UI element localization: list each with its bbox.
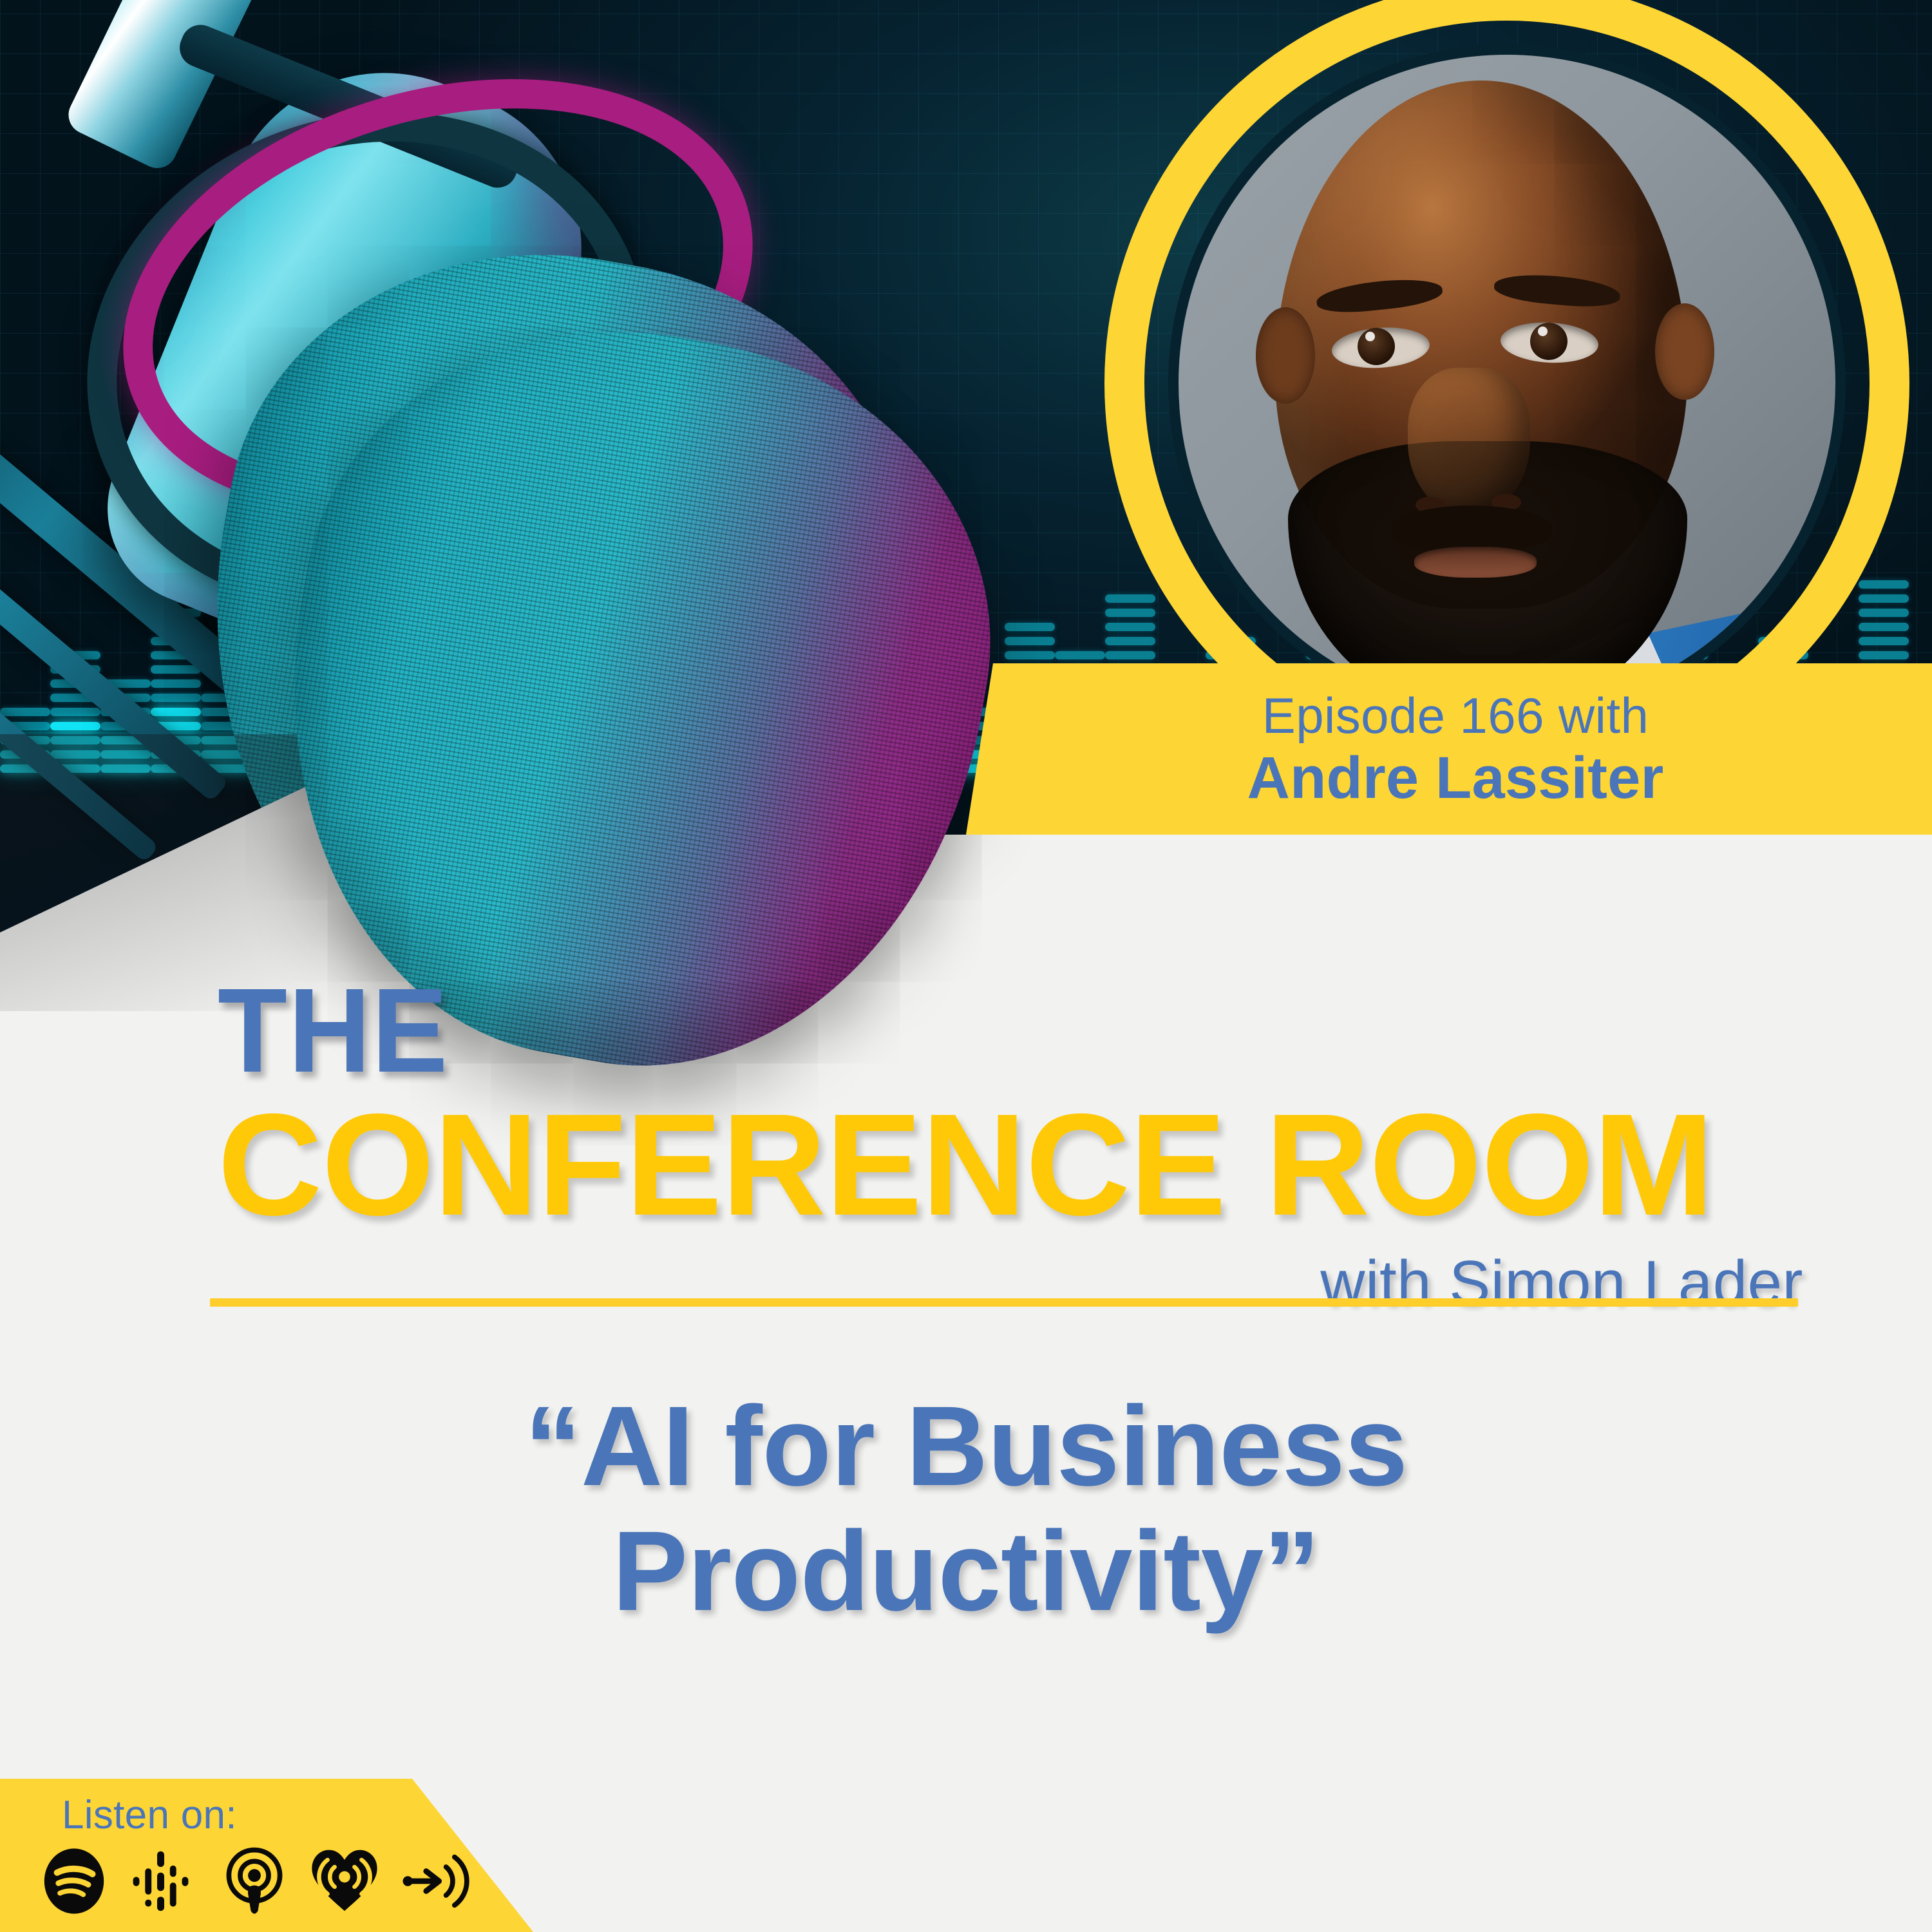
apple-podcasts-icon[interactable]	[219, 1846, 290, 1917]
guest-lips	[1414, 547, 1537, 578]
guest-eye-glint-left	[1365, 332, 1375, 341]
equalizer-segment	[1859, 651, 1909, 659]
episode-number-label: Episode 166 with	[1005, 690, 1906, 741]
equalizer-segment	[1105, 651, 1155, 659]
episode-title: “AI for Business Productivity”	[193, 1385, 1739, 1634]
equalizer-segment	[1859, 623, 1909, 631]
guest-iris-left	[1358, 328, 1395, 365]
brand-the-word: THE	[218, 971, 449, 1091]
podcast-addict-icon[interactable]	[399, 1846, 470, 1917]
equalizer-segment	[1105, 609, 1155, 617]
equalizer-segment	[1105, 637, 1155, 645]
equalizer-segment	[1859, 580, 1909, 589]
guest-nose	[1408, 368, 1530, 516]
guest-ear-left	[1256, 307, 1315, 404]
guest-eye-glint-right	[1538, 327, 1548, 336]
guest-face	[1179, 55, 1835, 712]
equalizer-segment	[1105, 623, 1155, 631]
equalizer-segment	[1859, 637, 1909, 645]
episode-title-line-2: Productivity”	[193, 1510, 1739, 1634]
equalizer-segment	[1055, 651, 1105, 659]
guest-portrait	[1179, 55, 1835, 712]
listen-on-label: Listen on:	[62, 1795, 237, 1835]
equalizer-segment	[1859, 594, 1909, 603]
equalizer-segment	[1859, 609, 1909, 617]
episode-guest-name: Andre Lassiter	[1005, 748, 1906, 808]
guest-iris-right	[1530, 323, 1567, 360]
spotify-icon[interactable]	[39, 1846, 109, 1917]
yellow-divider-line	[210, 1298, 1798, 1307]
equalizer-segment	[1105, 594, 1155, 603]
episode-title-line-1: “AI for Business	[193, 1385, 1739, 1510]
brand-name: CONFERENCE ROOM	[218, 1092, 1714, 1237]
iheartradio-icon[interactable]	[309, 1846, 380, 1917]
google-podcasts-icon[interactable]	[129, 1846, 200, 1917]
podcast-cover-art: Episode 166 with Andre Lassiter THE CONF…	[0, 0, 1932, 1932]
platform-icons-row	[39, 1846, 470, 1917]
guest-mustache	[1391, 506, 1552, 552]
guest-ear-right	[1655, 303, 1714, 400]
